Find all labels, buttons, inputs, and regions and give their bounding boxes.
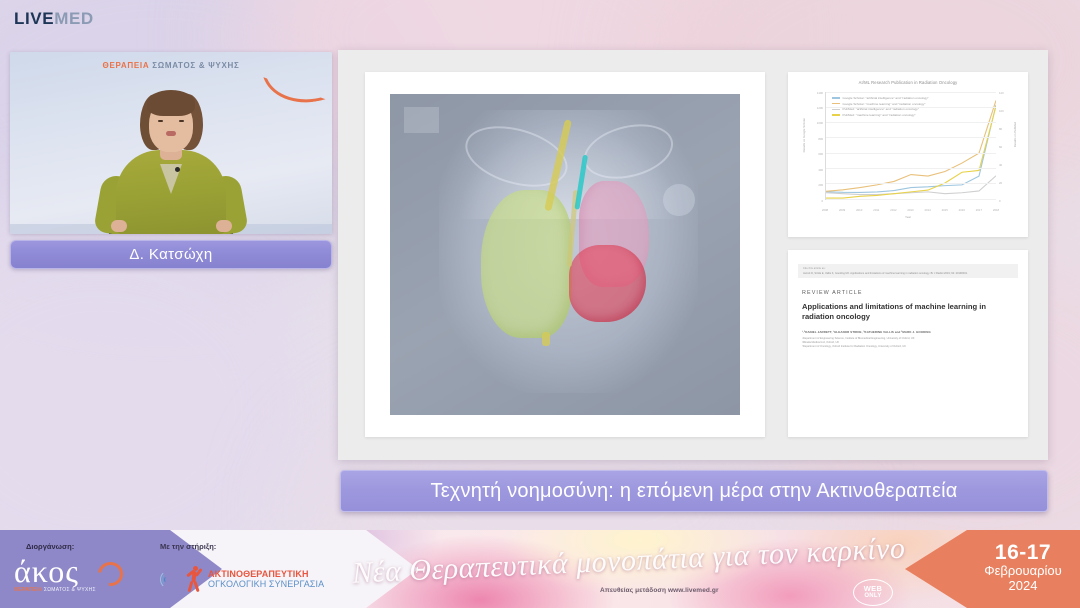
presentation-title-text: Τεχνητή νοημοσύνη: η επόμενη μέρα στην Α…: [430, 480, 957, 503]
citation-bar: Cite this article as: Jarrett D, Stride …: [798, 264, 1018, 278]
hand-left: [111, 220, 127, 232]
livemed-logo: LIVEMED: [14, 9, 94, 29]
chart-area: Results on Google Scholar Results on Pub…: [798, 88, 1018, 216]
video-header-orange: ΘΕΡΑΠΕΙΑ: [103, 61, 150, 70]
chart-ytick-left: 400: [810, 168, 823, 172]
chart-xtick: 2009: [839, 208, 845, 212]
chart-xtick: 2013: [907, 208, 913, 212]
chart-legend-item: PubMed: "machine learning" and "radiatio…: [832, 113, 929, 117]
chart-ytick-right: 0: [999, 199, 1012, 203]
ct-3d-segmentation-image: [390, 94, 740, 415]
organizer-label: Διοργάνωση:: [26, 542, 74, 551]
livestream-url-text: Απευθείας μετάδοση www.livemed.gr: [600, 587, 719, 594]
chart-gridline: [826, 137, 996, 138]
radiation-wave-icon: [162, 567, 184, 591]
akos-tagline-orange: ΘΕΡΑΠΕΙΑ: [14, 587, 42, 593]
aktino-logo: ΑΚΤΙΝΟΘΕΡΑΠΕΥΤΙΚΗ ΟΓΚΟΛΟΓΙΚΗ ΣΥΝΕΡΓΑΣΙΑ: [162, 566, 324, 592]
article-affiliation: ³Department of Oncology, Oxford Institut…: [802, 345, 1014, 349]
ct-corner-marker: [404, 107, 439, 133]
slide-stage[interactable]: AI/ML Research Publication in Radiation …: [338, 50, 1048, 460]
web-only-badge: WEB ONLY: [853, 579, 893, 606]
chart-legend-item: Google Scholar: "machine learning" and "…: [832, 102, 929, 106]
spine-lower-marker: [542, 332, 550, 346]
event-date-days: 16-17: [970, 542, 1076, 563]
aktino-line-1: ΑΚΤΙΝΟΘΕΡΑΠΕΥΤΙΚΗ: [208, 569, 324, 579]
chart-ytick-left: 200: [810, 183, 823, 187]
eye-left: [158, 120, 163, 123]
article-title: Applications and limitations of machine …: [802, 302, 1014, 322]
lung-left-segmentation: [481, 190, 572, 338]
aktino-line-2: ΟΓΚΟΛΟΓΙΚΗ ΣΥΝΕΡΓΑΣΙΑ: [208, 579, 324, 589]
chart-xtick: 2017: [976, 208, 982, 212]
chart-legend: Google Scholar: "artificial intelligence…: [832, 96, 929, 119]
chart-gridline: [826, 153, 996, 154]
speaker-video-panel[interactable]: ΘΕΡΑΠΕΙΑ ΣΩΜΑΤΟΣ & ΨΥΧΗΣ: [10, 52, 332, 234]
chart-gridline: [826, 122, 996, 123]
heart-segmentation: [569, 245, 646, 322]
lapel-mic-icon: [175, 167, 180, 172]
logo-med: MED: [54, 9, 94, 28]
chart-ytick-right: 40: [999, 163, 1012, 167]
chart-ytick-right: 60: [999, 145, 1012, 149]
akos-tagline-white: ΣΩΜΑΤΟΣ & ΨΥΧΗΣ: [42, 587, 96, 593]
akos-wordmark: άκος: [14, 556, 96, 586]
chart-xtick: 2014: [924, 208, 930, 212]
video-header-blue: ΣΩΜΑΤΟΣ & ΨΥΧΗΣ: [152, 61, 239, 70]
chart-ylabel-right: Results on PubMed: [1013, 122, 1017, 147]
chart-ytick-right: 120: [999, 91, 1012, 95]
chart-ytick-left: 1200: [810, 106, 823, 110]
web-only-line-2: ONLY: [864, 593, 881, 599]
scapula-marking: [663, 184, 695, 216]
chart-xtick: 2010: [856, 208, 862, 212]
chart-gridline: [826, 92, 996, 93]
chart-gridline: [826, 168, 996, 169]
chart-xtick: 2008: [822, 208, 828, 212]
event-date-month: Φεβρουαρίου: [970, 563, 1076, 578]
event-date-year: 2024: [970, 578, 1076, 593]
article-authors: ¹·²DANIEL JARRETT, ¹ELEANOR STRIDE, ³KAT…: [802, 330, 1014, 334]
chart-ytick-right: 100: [999, 109, 1012, 113]
chart-ytick-left: 800: [810, 137, 823, 141]
chart-gridline: [826, 183, 996, 184]
publication-trend-chart-panel: AI/ML Research Publication in Radiation …: [788, 72, 1028, 237]
review-article-panel: Cite this article as: Jarrett D, Stride …: [788, 250, 1028, 437]
article-affiliations: ¹Department of Engineering Science, Inst…: [802, 337, 1014, 349]
chart-xtick: 2015: [942, 208, 948, 212]
chart-legend-item: PubMed: "artificial intelligence" and "r…: [832, 107, 929, 111]
chart-xtick: 2011: [873, 208, 879, 212]
logo-live: LIVE: [14, 9, 54, 28]
akos-logo: άκος ΘΕΡΑΠΕΙΑ ΣΩΜΑΤΟΣ & ΨΥΧΗΣ: [14, 556, 96, 593]
presentation-title-banner: Τεχνητή νοημοσύνη: η επόμενη μέρα στην Α…: [340, 470, 1048, 512]
chart-ytick-left: 1400: [810, 91, 823, 95]
bottom-event-banner: Διοργάνωση: Με την στήριξη: άκος ΘΕΡΑΠΕΙ…: [0, 530, 1080, 608]
mouth: [166, 131, 176, 136]
chart-ytick-left: 0: [810, 199, 823, 203]
event-dates: 16-17 Φεβρουαρίου 2024: [970, 542, 1076, 593]
chart-ytick-left: 1000: [810, 121, 823, 125]
chart-ytick-right: 20: [999, 181, 1012, 185]
citation-body: Jarrett D, Stride E, Vallis K, Gooding M…: [803, 272, 1013, 276]
chart-title: AI/ML Research Publication in Radiation …: [798, 80, 1018, 85]
chart-ylabel-left: Results on Google Scholar: [802, 118, 806, 152]
chart-ytick-left: 600: [810, 152, 823, 156]
eye-right: [179, 120, 184, 123]
chart-xtick: 2018: [993, 208, 999, 212]
web-only-line-1: WEB: [864, 585, 882, 593]
chart-xlabel: Year: [798, 215, 1018, 219]
speaker-name-label: Δ. Κατσώχη: [129, 246, 212, 263]
chart-xtick: 2012: [890, 208, 896, 212]
human-figure-icon: [186, 566, 203, 592]
speaker-name-plate: Δ. Κατσώχη: [10, 240, 332, 269]
ct-image-panel: [365, 72, 765, 437]
video-header-text: ΘΕΡΑΠΕΙΑ ΣΩΜΑΤΟΣ & ΨΥΧΗΣ: [10, 61, 332, 70]
chart-legend-item: Google Scholar: "artificial intelligence…: [832, 96, 929, 100]
chart-xtick: 2016: [959, 208, 965, 212]
citation-header: Cite this article as:: [803, 267, 1013, 270]
hair-top: [147, 90, 195, 116]
article-kicker: REVIEW ARTICLE: [802, 290, 1014, 296]
chart-gridline: [826, 199, 996, 200]
chart-ytick-right: 80: [999, 127, 1012, 131]
akos-tagline: ΘΕΡΑΠΕΙΑ ΣΩΜΑΤΟΣ & ΨΥΧΗΣ: [14, 587, 96, 593]
hand-right: [216, 220, 232, 232]
support-label: Με την στήριξη:: [160, 542, 216, 551]
